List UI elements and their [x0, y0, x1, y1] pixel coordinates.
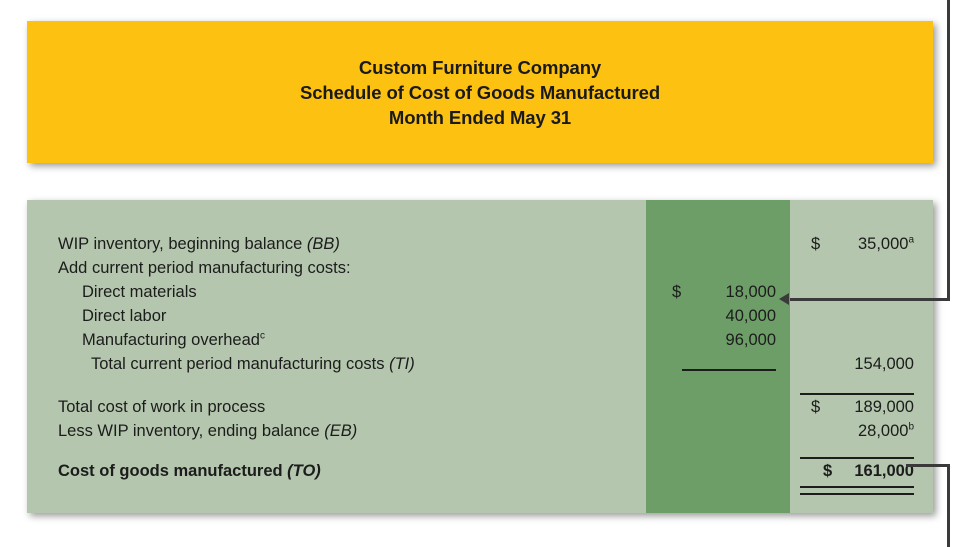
currency-symbol: $ [811, 395, 820, 419]
row-abbrev: (EB) [324, 422, 357, 440]
currency-symbol: $ [823, 459, 832, 483]
currency-symbol: $ [811, 232, 820, 256]
row-label-text: Direct materials [82, 283, 197, 301]
row-label: Total cost of work in process [58, 395, 265, 419]
callout-line-horizontal-to-direct-materials [790, 298, 950, 301]
amount-value: 189,000 [854, 398, 914, 416]
row-label-text: Total cost of work in process [58, 398, 265, 416]
amount-value: 96,000 [726, 331, 776, 349]
footnote-marker: b [908, 422, 914, 433]
amount-right: 154,000 [790, 352, 933, 376]
amount-mid: 40,000 [646, 304, 790, 328]
amount-right-total: $161,000 [790, 459, 933, 483]
amount-mid: $18,000 [646, 280, 790, 304]
title-banner: Custom Furniture Company Schedule of Cos… [27, 21, 933, 163]
schedule-panel: WIP inventory, beginning balance (BB) $3… [27, 200, 933, 513]
row-label: Direct materials [82, 280, 197, 304]
row-label: Less WIP inventory, ending balance (EB) [58, 419, 357, 443]
callout-line-vertical-bottom [947, 464, 950, 547]
amount-value: 18,000 [726, 283, 776, 301]
table-row: Add current period manufacturing costs: [27, 256, 933, 280]
footnote-marker: c [260, 331, 265, 342]
currency-symbol: $ [672, 280, 681, 304]
row-label-text: WIP inventory, beginning balance [58, 235, 307, 253]
table-row: WIP inventory, beginning balance (BB) $3… [27, 232, 933, 256]
company-name: Custom Furniture Company [359, 55, 601, 80]
table-row: Total current period manufacturing costs… [27, 352, 933, 376]
row-label-text: Less WIP inventory, ending balance [58, 422, 324, 440]
row-label: Cost of goods manufactured (TO) [58, 459, 321, 483]
schedule-name: Schedule of Cost of Goods Manufactured [300, 80, 660, 105]
table-row: Manufacturing overheadc 96,000 [27, 328, 933, 352]
schedule-figure: Custom Furniture Company Schedule of Cos… [0, 0, 971, 547]
amount-right: $189,000 [790, 395, 933, 419]
table-row: Cost of goods manufactured (TO) $161,000 [27, 459, 933, 483]
row-label: Manufacturing overheadc [82, 328, 265, 352]
table-row: Total cost of work in process $189,000 [27, 395, 933, 419]
row-label-text: Add current period manufacturing costs: [58, 259, 351, 277]
row-label: Total current period manufacturing costs… [91, 352, 415, 376]
footnote-marker: a [908, 235, 914, 246]
amount-value: 35,000 [858, 235, 908, 253]
row-abbrev: (BB) [307, 235, 340, 253]
grand-total-double-rule [800, 486, 914, 495]
amount-value: 40,000 [726, 307, 776, 325]
row-label-text: Cost of goods manufactured [58, 462, 287, 480]
row-label: Direct labor [82, 304, 166, 328]
amount-mid: 96,000 [646, 328, 790, 352]
amount-value: 154,000 [854, 355, 914, 373]
row-label-text: Total current period manufacturing costs [91, 355, 389, 373]
row-label: WIP inventory, beginning balance (BB) [58, 232, 340, 256]
row-abbrev: (TI) [389, 355, 415, 373]
callout-line-horizontal-from-total [906, 464, 950, 467]
row-label-text: Manufacturing overhead [82, 331, 260, 349]
schedule-rows: WIP inventory, beginning balance (BB) $3… [27, 200, 933, 513]
row-label: Add current period manufacturing costs: [58, 256, 351, 280]
table-row: Less WIP inventory, ending balance (EB) … [27, 419, 933, 443]
callout-arrowhead-direct-materials [779, 293, 789, 305]
amount-value: 28,000 [858, 422, 908, 440]
amount-right: 28,000b [790, 419, 933, 443]
row-abbrev: (TO) [287, 462, 321, 480]
callout-line-vertical-top [947, 0, 950, 301]
period-name: Month Ended May 31 [389, 105, 571, 130]
table-row: Direct labor 40,000 [27, 304, 933, 328]
amount-right: $35,000a [790, 232, 933, 256]
row-label-text: Direct labor [82, 307, 166, 325]
